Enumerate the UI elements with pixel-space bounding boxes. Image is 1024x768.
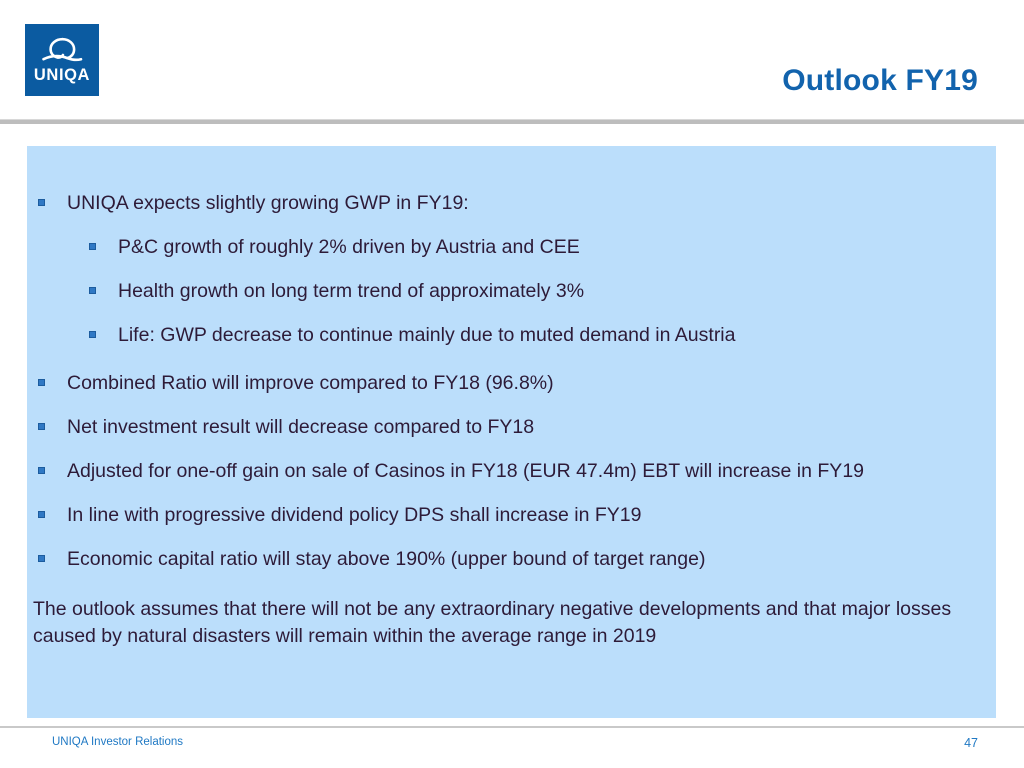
bullet-item: Adjusted for one-off gain on sale of Cas… (27, 458, 996, 484)
bullet-text: Health growth on long term trend of appr… (118, 278, 996, 304)
slide-header: UNIQA Outlook FY19 (0, 0, 1024, 121)
content-panel: UNIQA expects slightly growing GWP in FY… (27, 146, 996, 718)
bullet-text: Economic capital ratio will stay above 1… (67, 546, 996, 572)
bullet-square-icon (38, 511, 45, 518)
bullet-text: In line with progressive dividend policy… (67, 502, 996, 528)
closing-paragraph: The outlook assumes that there will not … (27, 596, 996, 650)
uniqa-q-loop-icon (39, 36, 85, 66)
bullet-text: Adjusted for one-off gain on sale of Cas… (67, 458, 996, 484)
bullet-text: Life: GWP decrease to continue mainly du… (118, 322, 996, 348)
bullet-text: UNIQA expects slightly growing GWP in FY… (67, 190, 996, 216)
bullet-item: Economic capital ratio will stay above 1… (27, 546, 996, 572)
footer-divider (0, 726, 1024, 728)
bullet-text: P&C growth of roughly 2% driven by Austr… (118, 234, 996, 260)
bullet-square-icon (38, 555, 45, 562)
bullet-square-icon (89, 331, 96, 338)
outlook-bullet-list: UNIQA expects slightly growing GWP in FY… (27, 146, 996, 650)
bullet-text: Net investment result will decrease comp… (67, 414, 996, 440)
slide-footer: UNIQA Investor Relations 47 (0, 733, 1024, 759)
uniqa-logo: UNIQA (25, 24, 99, 96)
bullet-item: UNIQA expects slightly growing GWP in FY… (27, 190, 996, 216)
bullet-text: Combined Ratio will improve compared to … (67, 370, 996, 396)
bullet-square-icon (38, 423, 45, 430)
bullet-square-icon (38, 467, 45, 474)
header-divider (0, 119, 1024, 124)
page-number: 47 (964, 736, 978, 750)
footer-label: UNIQA Investor Relations (52, 736, 183, 748)
page-title: Outlook FY19 (782, 64, 978, 98)
bullet-square-icon (38, 199, 45, 206)
bullet-item: Life: GWP decrease to continue mainly du… (27, 322, 996, 348)
bullet-item: In line with progressive dividend policy… (27, 502, 996, 528)
bullet-item: Net investment result will decrease comp… (27, 414, 996, 440)
bullet-square-icon (38, 379, 45, 386)
bullet-item: P&C growth of roughly 2% driven by Austr… (27, 234, 996, 260)
bullet-item: Health growth on long term trend of appr… (27, 278, 996, 304)
bullet-item: Combined Ratio will improve compared to … (27, 370, 996, 396)
bullet-square-icon (89, 287, 96, 294)
uniqa-logo-wordmark: UNIQA (34, 67, 90, 84)
bullet-square-icon (89, 243, 96, 250)
